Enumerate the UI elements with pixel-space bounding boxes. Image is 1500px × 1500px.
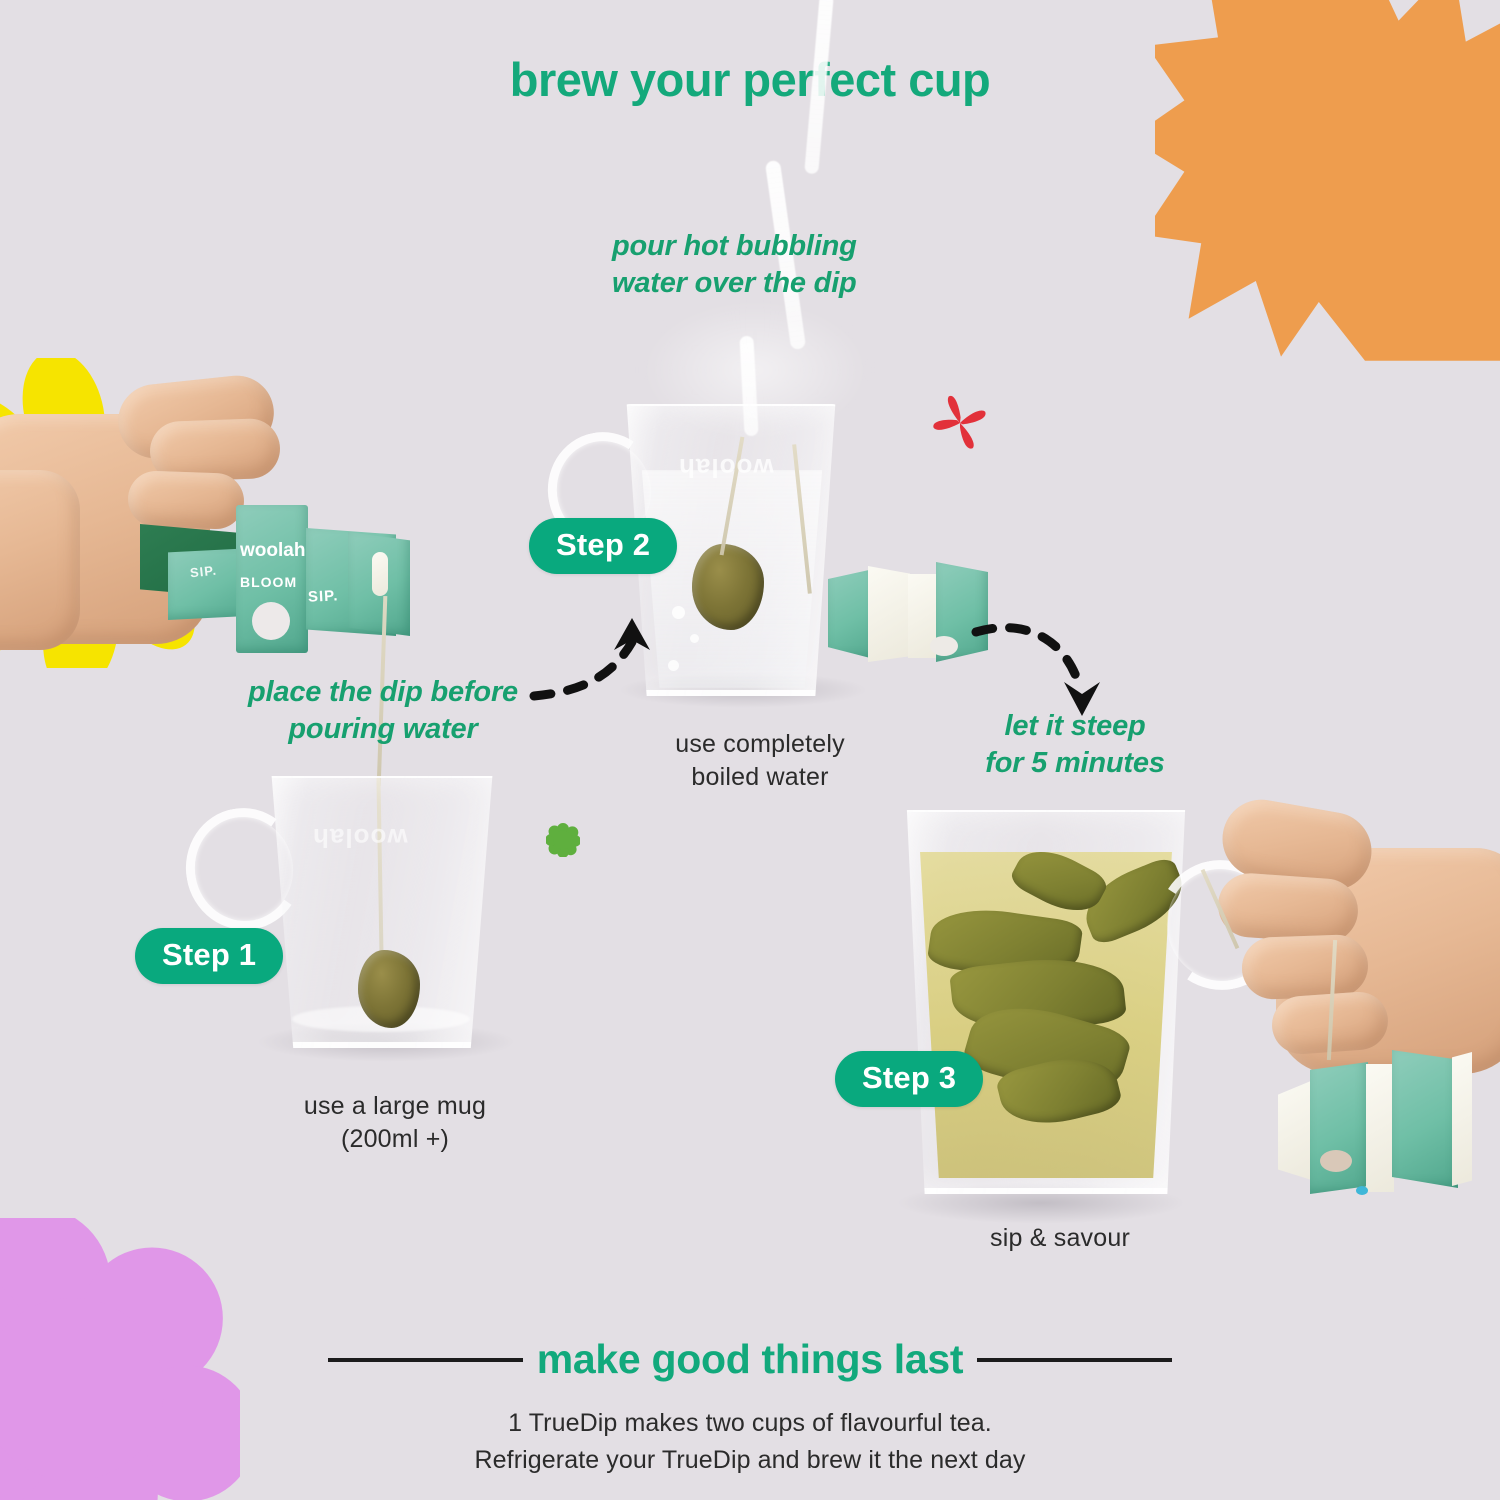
caption-step1-line1: use a large mug <box>265 1090 525 1123</box>
arrow-step2-to-step3-icon <box>968 604 1118 724</box>
footer: make good things last 1 TrueDip makes tw… <box>0 1336 1500 1478</box>
green-flower-icon <box>546 823 580 857</box>
used-carton-mid-white <box>1366 1064 1394 1192</box>
step-3-badge: Step 3 <box>835 1051 983 1107</box>
callout-place-line1: place the dip before <box>233 674 533 711</box>
used-carton-left-panel <box>1310 1062 1368 1194</box>
footer-heading: make good things last <box>537 1336 964 1383</box>
red-star-icon <box>925 388 995 458</box>
carton-blue-dot <box>1356 1186 1368 1195</box>
caption-step1-line2: (200ml +) <box>265 1123 525 1156</box>
caption-step-2: use completely boiled water <box>620 728 900 793</box>
bubble <box>690 634 699 643</box>
footer-subtext-line2: Refrigerate your TrueDip and brew it the… <box>0 1442 1500 1479</box>
packet-front-hole <box>252 602 290 640</box>
used-carton-right-edge <box>1452 1052 1472 1186</box>
used-carton-hole <box>1320 1150 1352 1172</box>
packet-sip-label: SIP. <box>308 587 339 606</box>
hand-middle-finger <box>127 470 245 530</box>
carton-hole <box>930 636 958 656</box>
caption-step-3: sip & savour <box>930 1222 1190 1255</box>
packet-sip-small-label: SIP. <box>189 563 217 581</box>
step1-mug-brand-logo: woolah <box>312 822 408 853</box>
page-title: brew your perfect cup <box>0 52 1500 107</box>
arrow-step1-to-step2-icon <box>528 592 678 712</box>
hand-wrist <box>0 470 80 650</box>
used-carton-right-panel <box>1392 1050 1458 1188</box>
packet-tab <box>372 552 388 596</box>
caption-step-1: use a large mug (200ml +) <box>265 1090 525 1155</box>
callout-pour-line2: water over the dip <box>612 265 912 302</box>
callout-pour-water: pour hot bubbling water over the dip <box>612 228 912 302</box>
caption-step3-line1: sip & savour <box>930 1222 1190 1255</box>
packet-flavour-label: BLOOM <box>240 574 297 590</box>
opened-carton-inner-left <box>868 566 910 662</box>
footer-rule-right <box>977 1358 1172 1362</box>
step3-hand-middle <box>1241 934 1369 1000</box>
callout-place-dip: place the dip before pouring water <box>233 674 533 748</box>
tea-dip-leaf-ball <box>692 544 764 630</box>
mug-brand-logo: woolah <box>678 452 774 483</box>
step3-hand-index <box>1216 871 1360 945</box>
packet-brand-label: woolah <box>240 540 305 562</box>
infographic-canvas: brew your perfect cup woolah Step 2 <box>0 0 1500 1500</box>
footer-subtext-line1: 1 TrueDip makes two cups of flavourful t… <box>0 1405 1500 1442</box>
footer-rule-left <box>328 1358 523 1362</box>
step1-tea-dip <box>358 950 420 1028</box>
footer-heading-row: make good things last <box>0 1336 1500 1383</box>
step-1-badge: Step 1 <box>135 928 283 984</box>
callout-place-line2: pouring water <box>233 711 533 748</box>
footer-subtext: 1 TrueDip makes two cups of flavourful t… <box>0 1405 1500 1478</box>
callout-steep-line2: for 5 minutes <box>960 745 1190 782</box>
callout-pour-line1: pour hot bubbling <box>612 228 912 265</box>
step-2-badge: Step 2 <box>529 518 677 574</box>
caption-step2-line2: boiled water <box>620 761 900 794</box>
caption-step2-line1: use completely <box>620 728 900 761</box>
